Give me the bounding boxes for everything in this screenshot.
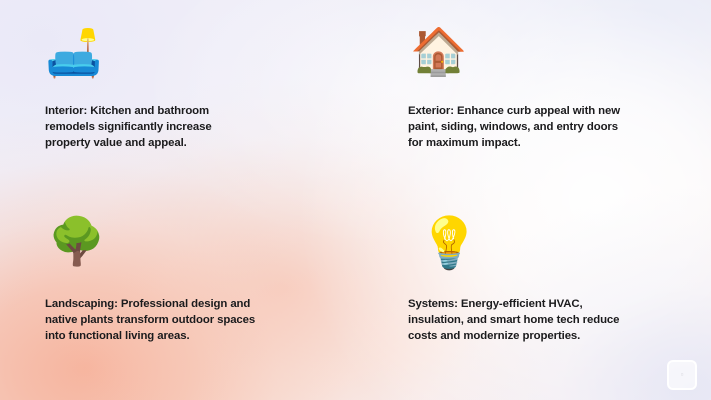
cell-interior-text: Interior: Kitchen and bathroom remodels … [45, 103, 313, 152]
cell-exterior-text: Exterior: Enhance curb appeal with new p… [408, 103, 680, 152]
house-icon: 🏠 [410, 28, 708, 84]
cell-exterior: 🏠 Exterior: Enhance curb appeal with new… [408, 28, 708, 152]
cell-landscaping-text: Landscaping: Professional design and nat… [45, 296, 311, 345]
light-bulb-icon: 💡 [418, 218, 708, 274]
presentation-slide: 🛋️ Interior: Kitchen and bathroom remode… [0, 0, 711, 400]
deciduous-tree-icon: 🌳 [48, 218, 345, 274]
content-grid: 🛋️ Interior: Kitchen and bathroom remode… [0, 0, 711, 400]
sofa-and-lamp-icon: 🛋️ [45, 30, 345, 86]
watermark-glyph-icon: ▫ [681, 371, 684, 379]
cell-systems: 💡 Systems: Energy-efficient HVAC, insula… [408, 218, 708, 345]
cell-landscaping: 🌳 Landscaping: Professional design and n… [45, 218, 345, 345]
cell-interior: 🛋️ Interior: Kitchen and bathroom remode… [45, 30, 345, 152]
watermark-badge: ▫ [667, 360, 697, 390]
cell-systems-text: Systems: Energy-efficient HVAC, insulati… [408, 296, 680, 345]
